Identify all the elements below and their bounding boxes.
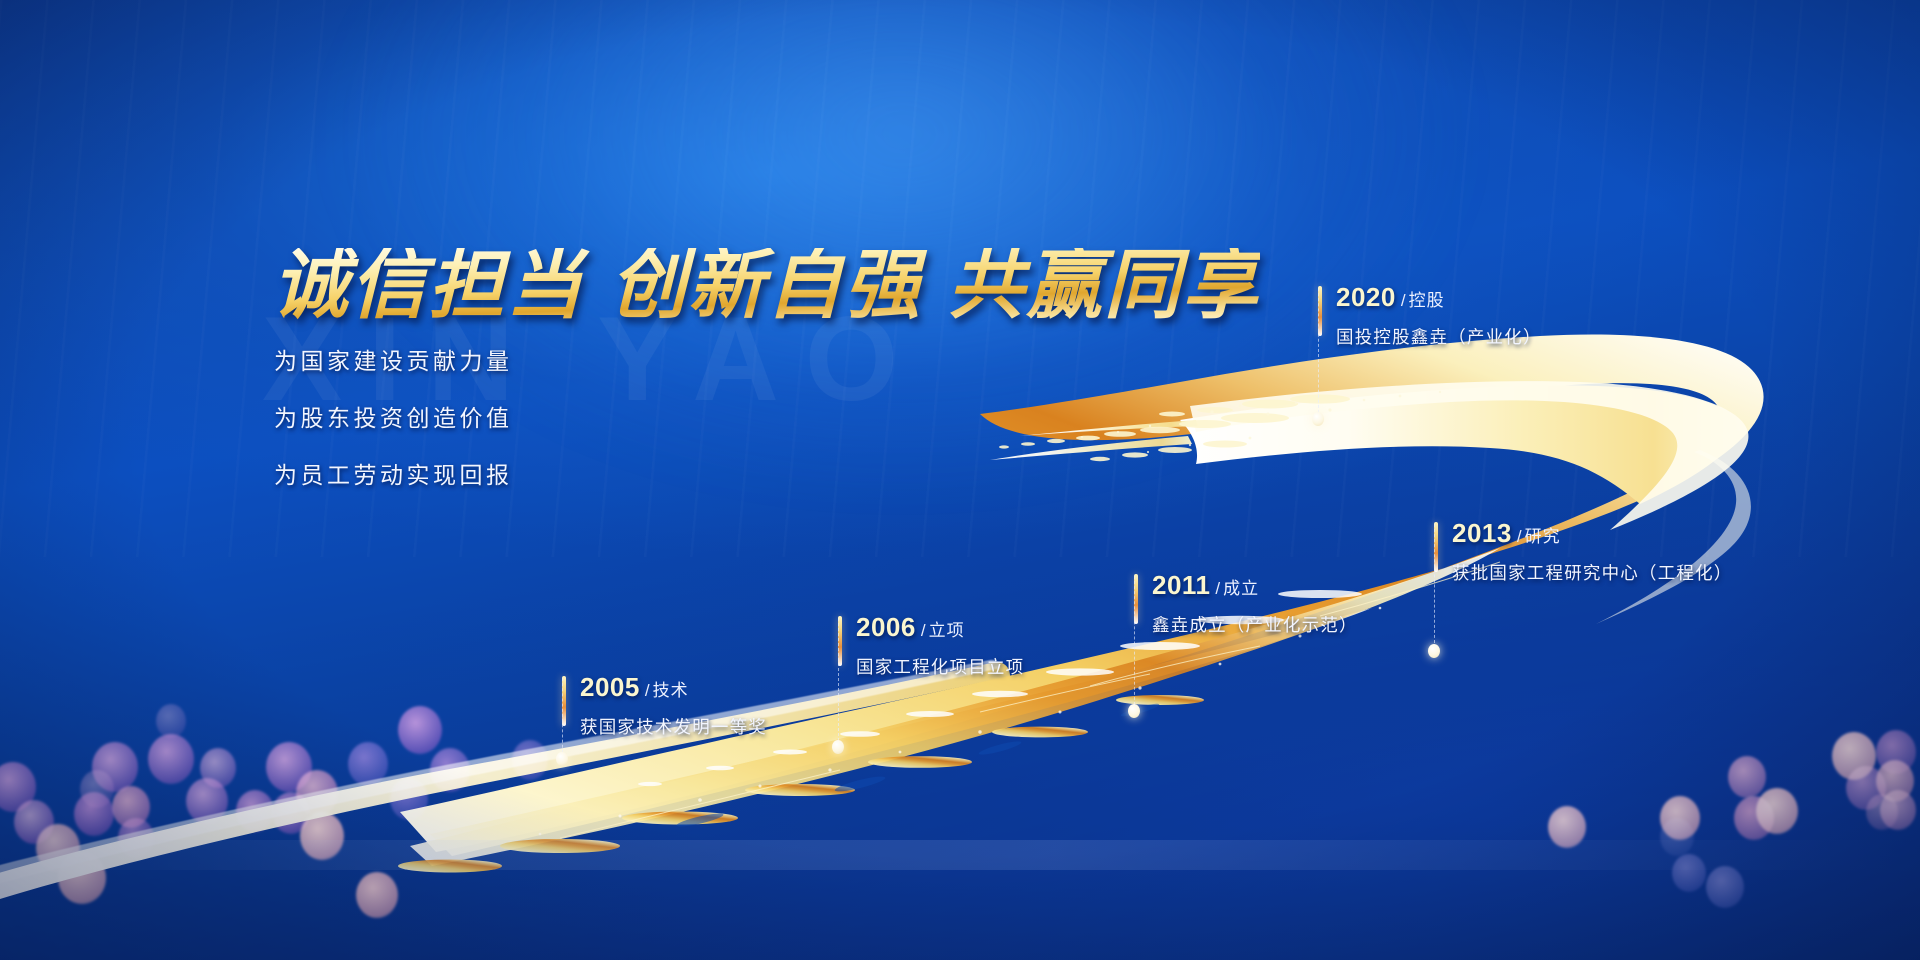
headline-part-1: 诚信担当	[272, 244, 584, 328]
leader-line-2011	[1134, 576, 1135, 710]
timeline-dot-2006[interactable]	[832, 740, 844, 754]
milestone-2020[interactable]: 2020/控股 国投控股鑫垚（产业化）	[1318, 282, 1542, 349]
milestone-2011[interactable]: 2011/成立 鑫垚成立（产业化示范）	[1134, 570, 1358, 637]
milestone-tag: 立项	[929, 621, 965, 640]
milestone-year: 2011	[1152, 570, 1210, 600]
milestone-heading: 2011/成立	[1152, 570, 1358, 601]
milestone-tag: 技术	[653, 681, 689, 700]
milestone-heading: 2020/控股	[1336, 282, 1542, 313]
milestone-year: 2020	[1336, 282, 1396, 312]
milestone-text-wrap: 2013/研究 获批国家工程研究中心（工程化）	[1434, 518, 1733, 585]
headline-part-2: 创新自强	[610, 244, 922, 328]
timeline-dot-2020[interactable]	[1312, 412, 1324, 426]
milestone-tag: 成立	[1223, 579, 1259, 598]
poster-canvas: XIN YAO 诚信担当创新自强共赢同享 为国家建设贡献力量 为股东投资创造价值…	[0, 0, 1920, 960]
milestone-description: 获批国家工程研究中心（工程化）	[1452, 560, 1733, 585]
milestone-description: 获国家技术发明一等奖	[580, 714, 767, 739]
timeline-dot-2011[interactable]	[1128, 704, 1140, 718]
milestone-description: 国投控股鑫垚（产业化）	[1336, 324, 1542, 349]
milestone-heading: 2005/技术	[580, 672, 767, 703]
slogan-item-3: 为员工劳动实现回报	[274, 464, 513, 487]
headline-part-3: 共赢同享	[948, 244, 1260, 328]
leader-line-2013	[1434, 524, 1435, 648]
milestone-separator: /	[1215, 579, 1220, 598]
page-title: 诚信担当创新自强共赢同享	[272, 248, 1260, 324]
milestone-year: 2013	[1452, 518, 1512, 548]
milestone-description: 国家工程化项目立项	[856, 654, 1024, 679]
milestone-separator: /	[1401, 291, 1406, 310]
milestone-text-wrap: 2020/控股 国投控股鑫垚（产业化）	[1318, 282, 1542, 349]
milestone-separator: /	[1517, 527, 1522, 546]
milestone-2005[interactable]: 2005/技术 获国家技术发明一等奖	[562, 672, 767, 739]
leader-line-2020	[1318, 288, 1319, 418]
milestone-2013[interactable]: 2013/研究 获批国家工程研究中心（工程化）	[1434, 518, 1733, 585]
leader-line-2006	[838, 618, 839, 746]
milestone-heading: 2013/研究	[1452, 518, 1733, 549]
milestone-tag: 研究	[1525, 527, 1561, 546]
milestone-separator: /	[921, 621, 926, 640]
milestone-description: 鑫垚成立（产业化示范）	[1152, 612, 1358, 637]
horizon-band	[0, 840, 1920, 870]
milestone-year: 2006	[856, 612, 916, 642]
milestone-text-wrap: 2005/技术 获国家技术发明一等奖	[562, 672, 767, 739]
timeline-dot-2005[interactable]	[556, 752, 568, 766]
milestone-tag: 控股	[1409, 291, 1445, 310]
timeline-dot-2013[interactable]	[1428, 644, 1440, 658]
milestone-text-wrap: 2011/成立 鑫垚成立（产业化示范）	[1134, 570, 1358, 637]
milestone-separator: /	[645, 681, 650, 700]
milestone-heading: 2006/立项	[856, 612, 1024, 643]
milestone-2006[interactable]: 2006/立项 国家工程化项目立项	[838, 612, 1024, 679]
slogan-item-1: 为国家建设贡献力量	[274, 350, 513, 373]
leader-line-2005	[562, 678, 563, 758]
slogan-list: 为国家建设贡献力量 为股东投资创造价值 为员工劳动实现回报	[274, 350, 513, 521]
slogan-item-2: 为股东投资创造价值	[274, 407, 513, 430]
milestone-year: 2005	[580, 672, 640, 702]
milestone-text-wrap: 2006/立项 国家工程化项目立项	[838, 612, 1024, 679]
